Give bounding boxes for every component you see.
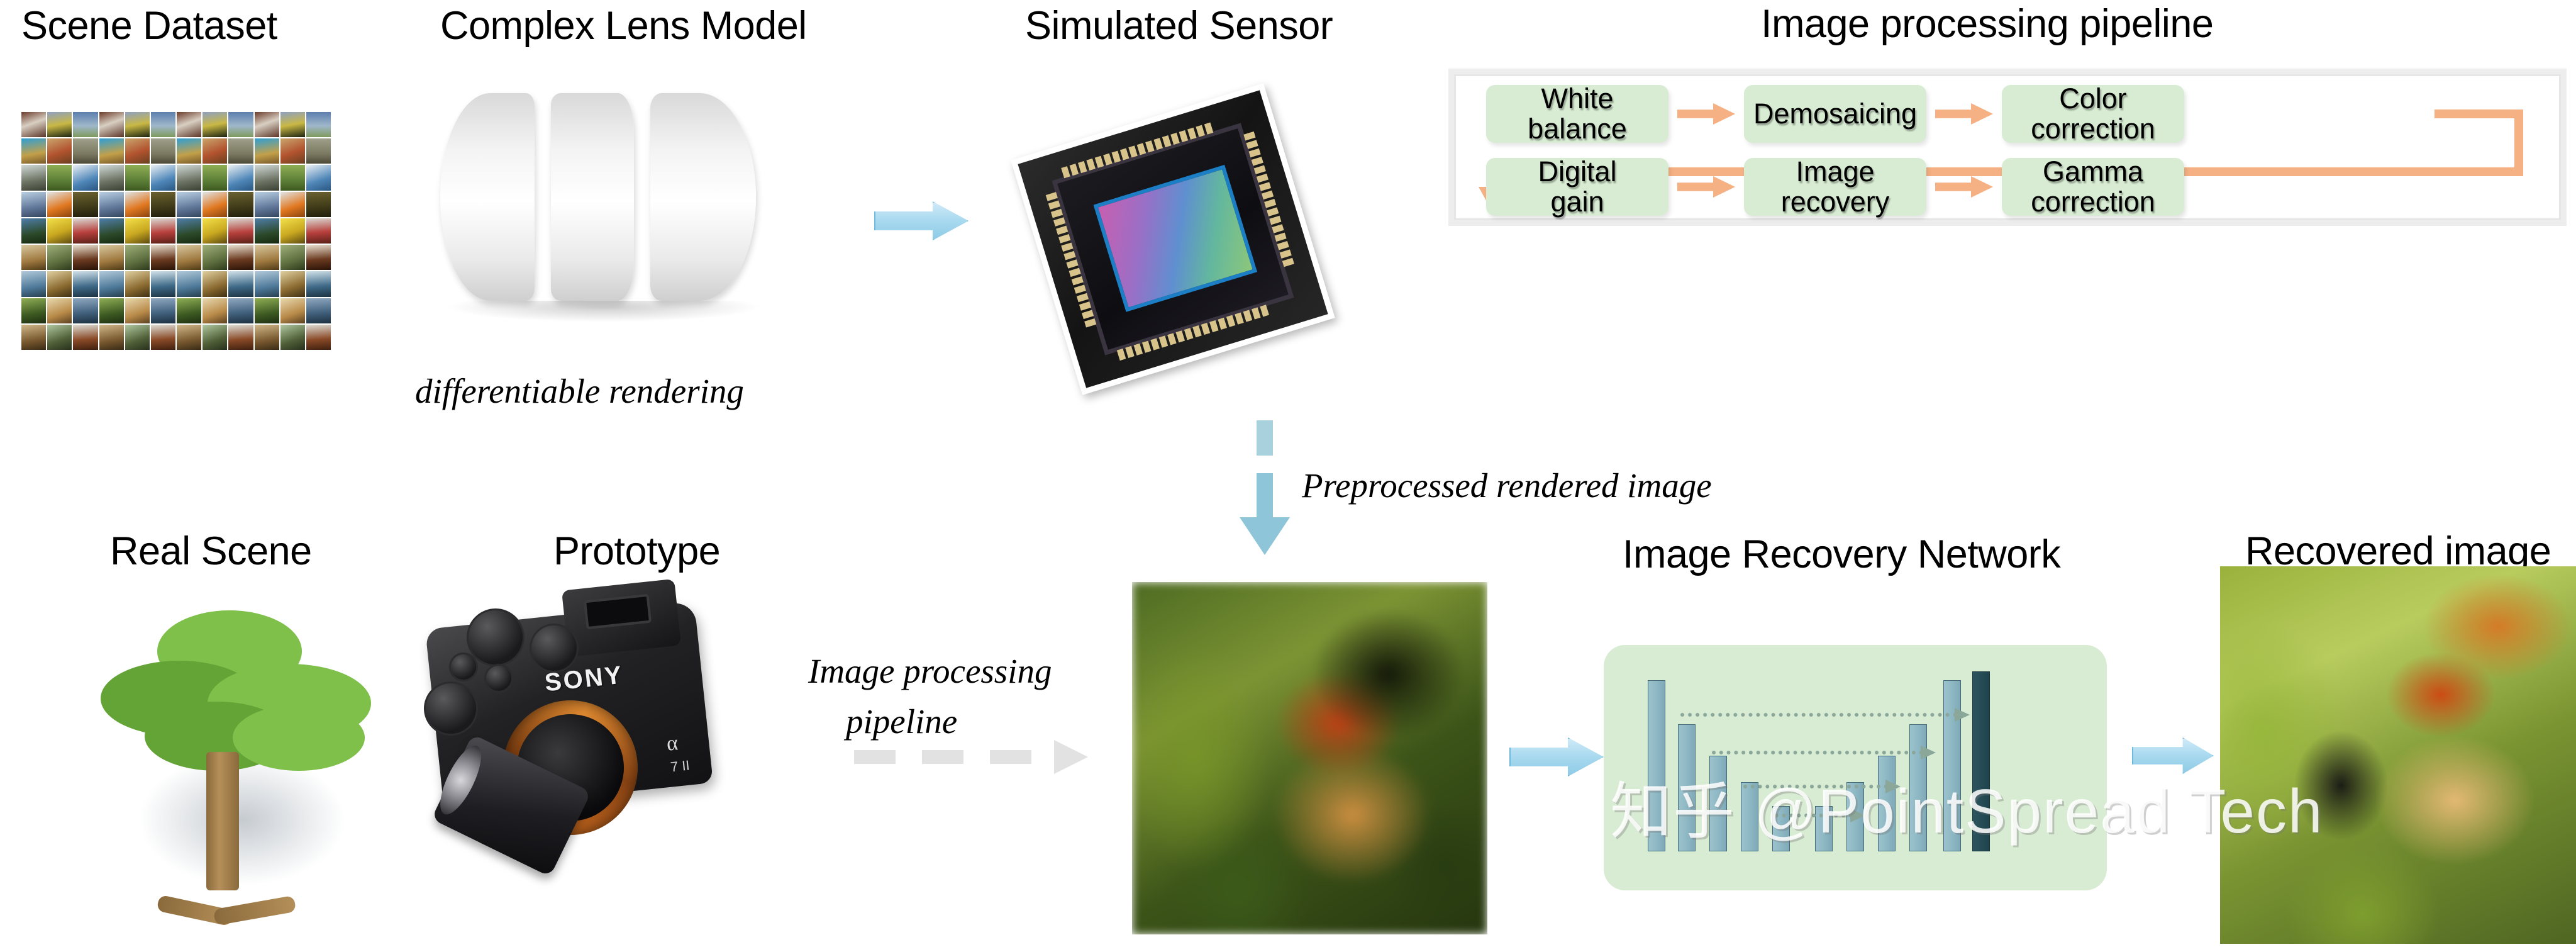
unet-skip-head-1 — [1955, 708, 1970, 722]
unet-bar-dec1 — [1943, 680, 1961, 851]
title-real-scene: Real Scene — [110, 529, 312, 574]
pipeline-step-line1: Digital — [1538, 157, 1616, 187]
pipeline-step-line1: White — [1541, 84, 1613, 114]
pipeline-row-2: Digital gain Image recovery Gamma correc… — [1486, 158, 2184, 216]
gray-arrow-head — [1054, 740, 1088, 774]
gray-arrow-dash-3 — [990, 750, 1031, 764]
camera-mode-dial[interactable] — [467, 608, 525, 666]
camera-c1-button[interactable] — [449, 653, 478, 681]
unet-skip-head-2 — [1921, 746, 1936, 759]
arrow-image-to-network — [1509, 737, 1604, 776]
lens-ground-shadow — [447, 301, 761, 322]
pipeline-arrow-1 — [1677, 103, 1735, 125]
pipeline-step-line1: Gamma — [2043, 157, 2143, 187]
sensor-chip — [1011, 83, 1335, 395]
sensor-package — [1018, 90, 1328, 388]
unet-bar-dec2 — [1909, 724, 1927, 851]
unet-bar-enc4 — [1741, 782, 1758, 851]
unet-skip-connection-4 — [1775, 814, 1853, 817]
unet-bar-enc2 — [1678, 724, 1696, 851]
real-scene-tree-model — [63, 591, 390, 919]
pipeline-step-digital-gain[interactable]: Digital gain — [1486, 158, 1668, 216]
camera-exposure-dial[interactable] — [530, 624, 579, 673]
title-simulated-sensor: Simulated Sensor — [1025, 3, 1333, 48]
gray-arrow-dash-2 — [922, 750, 963, 764]
tree-shadow — [138, 754, 346, 886]
pipeline-step-line2: correction — [2031, 187, 2155, 217]
complex-lens-model-illustration — [440, 93, 792, 345]
pipeline-arrow-2 — [1935, 103, 1993, 125]
unet-bar-dec3 — [1878, 756, 1896, 851]
lens-element-3 — [650, 93, 756, 301]
pipeline-arrow-4 — [1935, 176, 1993, 198]
pipeline-step-line1: Image — [1796, 157, 1874, 187]
image-recovery-network-diagram — [1604, 645, 2107, 890]
pipeline-step-color-correction[interactable]: Color correction — [2002, 85, 2184, 143]
lens-element-2 — [551, 93, 634, 301]
arrow-lens-to-sensor — [874, 201, 969, 240]
unet-bar-group — [1604, 645, 2107, 890]
caption-image-processing-line2: pipeline — [846, 702, 957, 741]
pipeline-step-line2: correction — [2031, 114, 2155, 144]
pipeline-step-line1: Demosaicing — [1753, 99, 1917, 129]
pipeline-step-line2: recovery — [1781, 187, 1890, 217]
unet-skip-connection-2 — [1712, 751, 1923, 754]
pipeline-arrow-3 — [1677, 176, 1735, 198]
title-prototype: Prototype — [553, 529, 720, 574]
tree-canopy-lower-right — [233, 705, 365, 771]
pipeline-step-demosaicing[interactable]: Demosaicing — [1744, 85, 1926, 143]
title-scene-dataset: Scene Dataset — [21, 3, 277, 48]
pipeline-step-line2: balance — [1528, 114, 1627, 144]
camera-alpha-logo: α — [665, 731, 679, 756]
arrow-sensor-to-render-head — [1240, 517, 1290, 555]
unet-skip-connection-1 — [1680, 713, 1957, 717]
title-image-recovery-network: Image Recovery Network — [1623, 532, 2060, 577]
unet-skip-connection-3 — [1743, 785, 1888, 788]
lens-element-1 — [440, 93, 535, 301]
pipeline-step-gamma-correction[interactable]: Gamma correction — [2002, 158, 2184, 216]
arrow-sensor-to-render-dash2 — [1257, 473, 1273, 520]
prototype-camera-photo: SONY α 7 II — [396, 569, 774, 884]
preprocessed-rendered-butterfly-image — [1132, 582, 1487, 934]
image-processing-pipeline-panel: White balance Demosaicing Color correcti… — [1454, 74, 2561, 220]
tree-root-right — [213, 895, 297, 926]
simulated-sensor-illustration — [997, 98, 1374, 393]
unet-bar-bottleneck-left — [1772, 806, 1790, 851]
arrow-network-to-recovered — [2132, 737, 2214, 774]
pipeline-step-white-balance[interactable]: White balance — [1486, 85, 1668, 143]
gray-arrow-dash-1 — [854, 750, 896, 764]
caption-preprocessed-rendered-image: Preprocessed rendered image — [1302, 466, 1712, 505]
recovered-butterfly-image — [2220, 566, 2576, 944]
caption-differentiable-rendering: differentiable rendering — [415, 371, 744, 411]
unet-bar-enc1 — [1648, 680, 1665, 851]
figure-canvas: Scene Dataset Complex Lens Model Simulat… — [0, 0, 2576, 947]
unet-bar-bottleneck-right — [1815, 806, 1833, 851]
pipeline-step-line2: gain — [1550, 187, 1604, 217]
unet-bar-enc3 — [1709, 756, 1727, 851]
pipeline-row-1: White balance Demosaicing Color correcti… — [1486, 85, 2184, 143]
pipeline-step-line1: Color — [2059, 84, 2127, 114]
tree-trunk — [206, 752, 239, 890]
caption-image-processing-line1: Image processing — [808, 651, 1052, 691]
unet-bar-output — [1972, 671, 1990, 851]
pipeline-step-image-recovery[interactable]: Image recovery — [1744, 158, 1926, 216]
title-lens-model: Complex Lens Model — [440, 3, 807, 48]
camera-model-label: 7 II — [670, 757, 691, 775]
arrow-sensor-to-render-dash1 — [1257, 420, 1273, 456]
camera-shutter-button[interactable] — [424, 681, 478, 736]
camera-c2-button[interactable] — [484, 664, 513, 693]
scene-dataset-thumbnail-grid — [21, 112, 331, 350]
title-image-processing-pipeline: Image processing pipeline — [1761, 1, 2213, 47]
